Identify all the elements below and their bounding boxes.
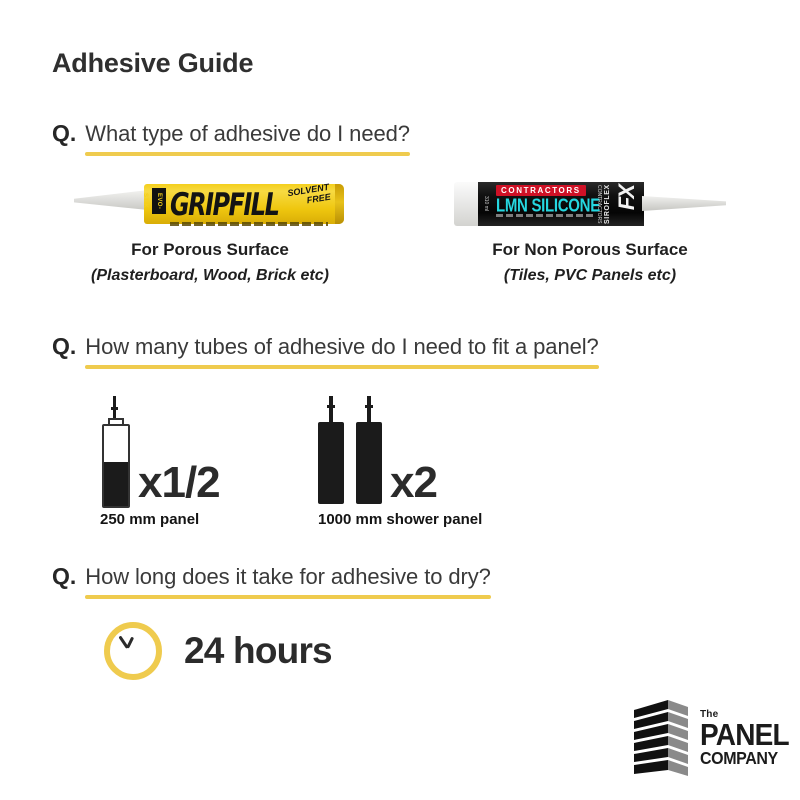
question-1: Q. What type of adhesive do I need? [52,120,410,156]
tube-cap [454,182,480,226]
quantity-two-tubes: x2 1000 mm shower panel [318,396,482,528]
gripfill-tube-icon: EVO-STIK GRIPFILL SOLVENT FREE [74,176,344,232]
clock-hand-hour [126,637,134,649]
question-marker: Q. [52,120,76,147]
contractors-banner: CONTRACTORS [496,185,586,196]
tube-body [318,422,344,504]
question-2: Q. How many tubes of adhesive do I need … [52,333,599,369]
question-underline [85,365,598,369]
logo-panel: PANEL [700,720,789,750]
question-3: Q. How long does it take for adhesive to… [52,563,491,599]
caption-main: For Non Porous Surface [420,240,760,260]
tube-body [356,422,382,504]
question-text-wrap: How long does it take for adhesive to dr… [85,564,490,599]
question-marker: Q. [52,333,76,360]
tube-nozzle [642,196,726,211]
logo-company: COMPANY [700,751,789,768]
question-marker: Q. [52,563,76,590]
clock-icon [104,622,162,680]
tube-fine-print [170,222,328,226]
caption-sub: (Tiles, PVC Panels etc) [420,267,760,285]
question-text-wrap: How many tubes of adhesive do I need to … [85,334,598,369]
caption-sub: (Plasterboard, Wood, Brick etc) [40,267,380,285]
tube-outline [102,424,130,508]
question-text: How many tubes of adhesive do I need to … [85,334,598,359]
quantity-label: 250 mm panel [100,511,220,528]
question-underline [85,152,410,156]
quantity-row: x2 [318,396,482,504]
tube-nozzle [74,190,148,210]
quantity-label: 1000 mm shower panel [318,511,482,528]
evostik-brand-label: EVO-STIK [152,188,166,214]
tube-side-text: 310 ml [480,184,492,224]
half-tube-icon [100,396,130,504]
drying-time-answer: 24 hours [104,622,332,680]
tube-fine-print [496,214,596,217]
drying-time-value: 24 hours [184,630,332,672]
gripfill-brand-label: GRIPFILL [170,186,278,222]
tube-nozzle [327,396,335,424]
non-porous-surface-caption: For Non Porous Surface (Tiles, PVC Panel… [420,240,760,285]
question-underline [85,595,490,599]
logo-wordmark: The PANEL COMPANY [700,710,789,767]
quantity-multiplier: x1/2 [138,462,220,504]
solid-tube-icon [318,396,344,504]
quantity-row: x1/2 [100,396,220,504]
tube-nozzle [365,396,373,424]
tube-strip-text: CONTRACTORS [590,184,602,224]
infographic-page: Adhesive Guide Q. What type of adhesive … [0,0,800,800]
company-logo: The PANEL COMPANY [630,698,789,778]
solid-tube-icon [356,396,382,504]
question-text: How long does it take for adhesive to dr… [85,564,490,589]
page-title: Adhesive Guide [52,48,253,79]
quantity-half-tube: x1/2 250 mm panel [100,396,220,528]
fx-logo-label: FX [618,186,636,210]
lmn-silicone-tube-icon: 310 ml CONTRACTORS LMN SILICONE CONTRACT… [454,176,724,232]
quantity-multiplier: x2 [390,462,437,504]
porous-surface-caption: For Porous Surface (Plasterboard, Wood, … [40,240,380,285]
question-text: What type of adhesive do I need? [85,121,410,146]
two-tubes-icon [318,396,382,504]
question-text-wrap: What type of adhesive do I need? [85,121,410,156]
tube-fill [104,462,128,506]
caption-main: For Porous Surface [40,240,380,260]
stacked-panels-icon [630,698,692,778]
